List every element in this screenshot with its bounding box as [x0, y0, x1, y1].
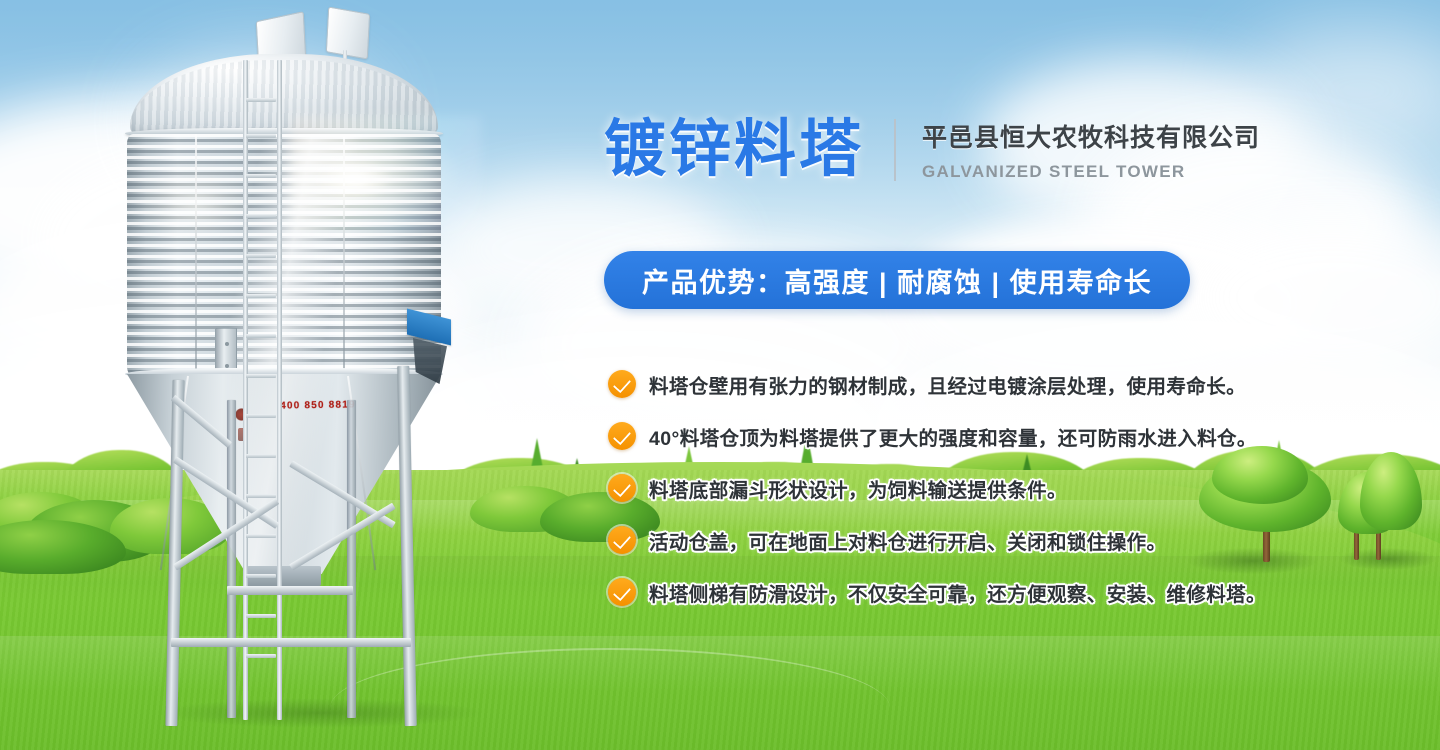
check-circle-icon	[608, 370, 636, 398]
list-item: 40°料塔仓顶为料塔提供了更大的强度和容量，还可防雨水进入料仓。	[608, 410, 1308, 462]
check-circle-icon	[608, 578, 636, 606]
feature-text: 料塔底部漏斗形状设计，为饲料输送提供条件。	[649, 474, 1067, 503]
product-advantage-text: 产品优势：高强度 | 耐腐蚀 | 使用寿命长	[642, 261, 1152, 300]
headline-row: 镀锌料塔 平邑县恒大农牧科技有限公司 GALVANIZED STEEL TOWE…	[604, 118, 1260, 182]
company-name: 平邑县恒大农牧科技有限公司	[922, 118, 1260, 154]
page-title: 镀锌料塔	[604, 119, 864, 181]
check-circle-icon	[608, 474, 636, 502]
feature-text: 料塔仓壁用有张力的钢材制成，且经过电镀涂层处理，使用寿命长。	[649, 370, 1246, 399]
check-circle-icon	[608, 526, 636, 554]
feature-text: 活动仓盖，可在地面上对料仓进行开启、关闭和锁住操作。	[649, 526, 1166, 555]
list-item: 料塔底部漏斗形状设计，为饲料输送提供条件。	[608, 462, 1308, 514]
company-block: 平邑县恒大农牧科技有限公司 GALVANIZED STEEL TOWER	[922, 118, 1260, 182]
hero-content: 镀锌料塔 平邑县恒大农牧科技有限公司 GALVANIZED STEEL TOWE…	[0, 0, 1440, 750]
product-advantage-banner: 产品优势：高强度 | 耐腐蚀 | 使用寿命长	[604, 251, 1190, 309]
check-circle-icon	[608, 422, 636, 450]
list-item: 料塔仓壁用有张力的钢材制成，且经过电镀涂层处理，使用寿命长。	[608, 358, 1308, 410]
list-item: 料塔侧梯有防滑设计，不仅安全可靠，还方便观察、安装、维修料塔。	[608, 566, 1308, 618]
feature-list: 料塔仓壁用有张力的钢材制成，且经过电镀涂层处理，使用寿命长。 40°料塔仓顶为料…	[608, 358, 1308, 618]
company-subtitle: GALVANIZED STEEL TOWER	[922, 162, 1260, 182]
list-item: 活动仓盖，可在地面上对料仓进行开启、关闭和锁住操作。	[608, 514, 1308, 566]
feature-text: 料塔侧梯有防滑设计，不仅安全可靠，还方便观察、安装、维修料塔。	[649, 578, 1266, 607]
feature-text: 40°料塔仓顶为料塔提供了更大的强度和容量，还可防雨水进入料仓。	[649, 422, 1257, 451]
headline-divider	[894, 119, 896, 181]
